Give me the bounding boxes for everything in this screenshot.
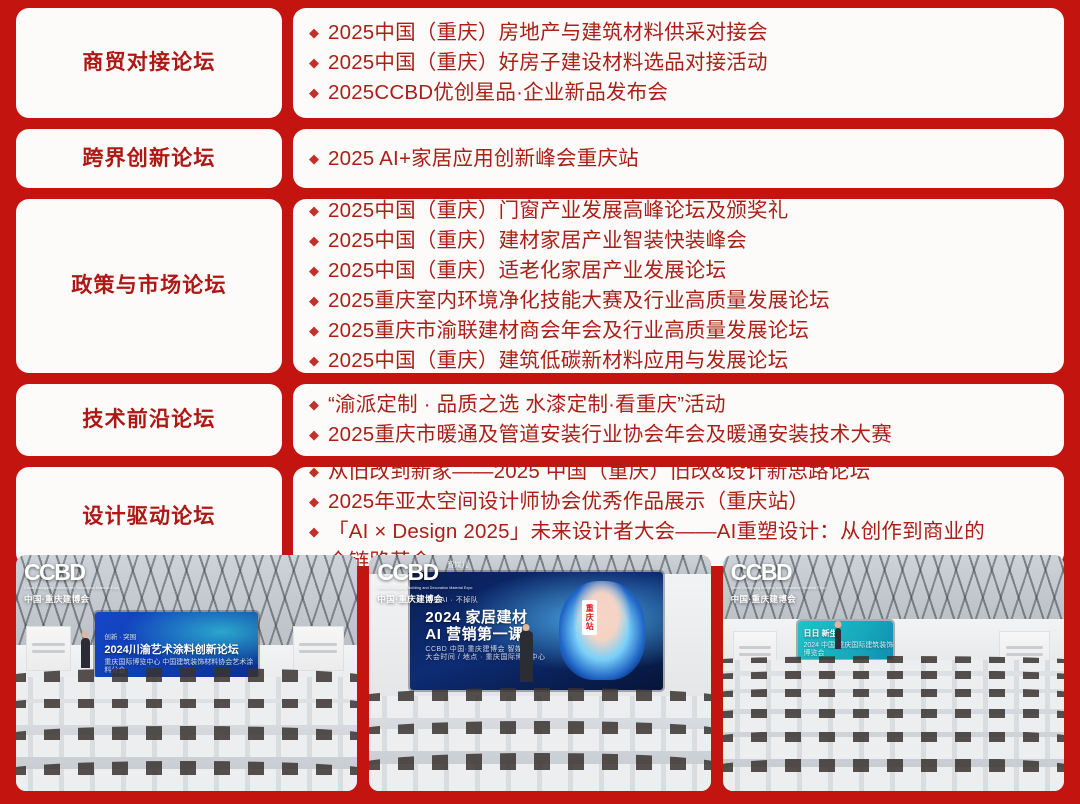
diamond-bullet-icon: ◆ [309, 286, 319, 316]
list-item[interactable]: ◆2025中国（重庆）房地产与建筑材料供采对接会 [309, 18, 1050, 48]
diamond-bullet-icon: ◆ [309, 420, 319, 450]
list-item-text: 2025中国（重庆）建筑低碳新材料应用与发展论坛 [328, 349, 788, 372]
diamond-bullet-icon: ◆ [309, 457, 319, 487]
table-row: 跨界创新论坛 ◆2025 AI+家居应用创新峰会重庆站 [16, 129, 1064, 188]
table-row: 技术前沿论坛 ◆“渝派定制 · 品质之选 水漆定制·看重庆”活动 ◆2025重庆… [16, 384, 1064, 456]
list-item[interactable]: ◆2025 AI+家居应用创新峰会重庆站 [309, 144, 1050, 174]
diamond-bullet-icon: ◆ [309, 226, 319, 256]
list-item-text: 2025中国（重庆）好房子建设材料选品对接活动 [328, 51, 768, 74]
list-item-text: 2025中国（重庆）建材家居产业智装快装峰会 [328, 229, 747, 252]
diamond-bullet-icon: ◆ [309, 18, 319, 48]
poster-root: 商贸对接论坛 ◆2025中国（重庆）房地产与建筑材料供采对接会 ◆2025中国（… [0, 0, 1080, 804]
list-item-text: 2025重庆市渝联建材商会年会及行业高质量发展论坛 [328, 319, 809, 342]
list-item[interactable]: ◆2025年亚太空间设计师协会优秀作品展示（重庆站） [309, 487, 1050, 517]
forum-items-cell: ◆从旧改到新家——2025 中国（重庆）旧改&设计新思路论坛 ◆2025年亚太空… [293, 467, 1064, 566]
list-item-text: 2025年亚太空间设计师协会优秀作品展示（重庆站） [328, 490, 809, 513]
event-photo[interactable]: 遇见AI · 不掉队 2024 家居建材 AI 营销第一课 CCBD 中国·重庆… [369, 555, 710, 791]
forum-items-cell: ◆2025中国（重庆）房地产与建筑材料供采对接会 ◆2025中国（重庆）好房子建… [293, 8, 1064, 118]
ccbd-logo: CCBD China Chongqing Building and Decora… [731, 561, 826, 605]
ccbd-logo-english: China Chongqing Building and Decoration … [731, 586, 826, 591]
list-item-text: 2025中国（重庆）适老化家居产业发展论坛 [328, 259, 726, 282]
list-item[interactable]: ◆2025中国（重庆）好房子建设材料选品对接活动 [309, 48, 1050, 78]
ccbd-logo-chinese: 中国·重庆建博会 [731, 593, 826, 605]
forum-category-label: 政策与市场论坛 [71, 272, 226, 299]
ai-avatar-graphic [559, 581, 645, 680]
list-item-text: 2025重庆市暖通及管道安装行业协会年会及暖通安装技术大赛 [328, 423, 892, 446]
audience-crowd [16, 659, 357, 791]
list-item[interactable]: ◆2025中国（重庆）建筑低碳新材料应用与发展论坛 [309, 346, 1050, 376]
screen-title: 2024川渝艺术涂料创新论坛 [104, 644, 258, 657]
diamond-bullet-icon: ◆ [309, 256, 319, 286]
ccbd-logo-wordmark: CCBD [377, 561, 472, 584]
forum-category-label: 跨界创新论坛 [82, 145, 215, 172]
ccbd-logo: CCBD China Chongqing Building and Decora… [24, 561, 119, 605]
forum-category-label: 技术前沿论坛 [82, 406, 215, 433]
forum-items-cell: ◆2025 AI+家居应用创新峰会重庆站 [293, 129, 1064, 188]
list-item[interactable]: ◆2025CCBD优创星品·企业新品发布会 [309, 78, 1050, 108]
forum-category-cell[interactable]: 商贸对接论坛 [16, 8, 282, 118]
table-row: 设计驱动论坛 ◆从旧改到新家——2025 中国（重庆）旧改&设计新思路论坛 ◆2… [16, 467, 1064, 566]
list-item-text: 2025CCBD优创星品·企业新品发布会 [328, 81, 668, 104]
ccbd-logo-wordmark: CCBD [731, 561, 826, 584]
diamond-bullet-icon: ◆ [309, 487, 319, 517]
list-item-text: 2025 AI+家居应用创新峰会重庆站 [328, 147, 639, 170]
ccbd-logo-wordmark: CCBD [24, 561, 119, 584]
diamond-bullet-icon: ◆ [309, 517, 319, 547]
diamond-bullet-icon: ◆ [309, 196, 319, 226]
screen-kicker: 创新 · 突围 [104, 634, 258, 641]
forum-schedule-table: 商贸对接论坛 ◆2025中国（重庆）房地产与建筑材料供采对接会 ◆2025中国（… [0, 0, 1080, 577]
diamond-bullet-icon: ◆ [309, 78, 319, 108]
list-item[interactable]: ◆2025中国（重庆）门窗产业发展高峰论坛及颁奖礼 [309, 196, 1050, 226]
forum-category-cell[interactable]: 设计驱动论坛 [16, 467, 282, 566]
forum-items-cell: ◆“渝派定制 · 品质之选 水漆定制·看重庆”活动 ◆2025重庆市暖通及管道安… [293, 384, 1064, 456]
audience-crowd [369, 673, 710, 791]
list-item-text: 2025中国（重庆）门窗产业发展高峰论坛及颁奖礼 [328, 199, 788, 222]
list-item[interactable]: ◆2025重庆室内环境净化技能大赛及行业高质量发展论坛 [309, 286, 1050, 316]
audience-crowd [723, 645, 1064, 791]
event-photo[interactable]: 创新 · 突围 2024川渝艺术涂料创新论坛 重庆国际博览中心 中国建筑装饰材料… [16, 555, 357, 791]
list-item-text: 2025重庆室内环境净化技能大赛及行业高质量发展论坛 [328, 289, 830, 312]
list-item[interactable]: ◆2025中国（重庆）建材家居产业智装快装峰会 [309, 226, 1050, 256]
event-photo[interactable]: 日日 新生 2024 中国·重庆国际建筑装饰博览会 CCBD China Cho… [723, 555, 1064, 791]
ccbd-logo-english: China Chongqing Building and Decoration … [377, 586, 472, 591]
list-item[interactable]: ◆从旧改到新家——2025 中国（重庆）旧改&设计新思路论坛 [309, 457, 1050, 487]
diamond-bullet-icon: ◆ [309, 390, 319, 420]
ccbd-logo: CCBD China Chongqing Building and Decora… [377, 561, 472, 605]
ccbd-logo-chinese: 中国·重庆建博会 [24, 593, 119, 605]
forum-category-cell[interactable]: 政策与市场论坛 [16, 199, 282, 373]
diamond-bullet-icon: ◆ [309, 316, 319, 346]
table-row: 政策与市场论坛 ◆2025中国（重庆）门窗产业发展高峰论坛及颁奖礼 ◆2025中… [16, 199, 1064, 373]
forum-category-cell[interactable]: 技术前沿论坛 [16, 384, 282, 456]
diamond-bullet-icon: ◆ [309, 48, 319, 78]
diamond-bullet-icon: ◆ [309, 346, 319, 376]
diamond-bullet-icon: ◆ [309, 144, 319, 174]
ccbd-logo-english: China Chongqing Building and Decoration … [24, 586, 119, 591]
list-item-text: 2025中国（重庆）房地产与建筑材料供采对接会 [328, 21, 768, 44]
table-row: 商贸对接论坛 ◆2025中国（重庆）房地产与建筑材料供采对接会 ◆2025中国（… [16, 8, 1064, 118]
screen-title: 日日 新生 [803, 629, 893, 638]
forum-category-cell[interactable]: 跨界创新论坛 [16, 129, 282, 188]
list-item-text: “渝派定制 · 品质之选 水漆定制·看重庆”活动 [328, 393, 726, 416]
forum-category-label: 商贸对接论坛 [82, 49, 215, 76]
list-item[interactable]: ◆“渝派定制 · 品质之选 水漆定制·看重庆”活动 [309, 390, 1050, 420]
list-item[interactable]: ◆2025中国（重庆）适老化家居产业发展论坛 [309, 256, 1050, 286]
event-photo-strip: 创新 · 突围 2024川渝艺术涂料创新论坛 重庆国际博览中心 中国建筑装饰材料… [16, 555, 1064, 791]
list-item-text: 从旧改到新家——2025 中国（重庆）旧改&设计新思路论坛 [328, 460, 870, 483]
city-badge: 重庆站 [582, 600, 597, 635]
forum-items-cell: ◆2025中国（重庆）门窗产业发展高峰论坛及颁奖礼 ◆2025中国（重庆）建材家… [293, 199, 1064, 373]
list-item[interactable]: ◆2025重庆市暖通及管道安装行业协会年会及暖通安装技术大赛 [309, 420, 1050, 450]
forum-category-label: 设计驱动论坛 [82, 503, 215, 530]
ccbd-logo-chinese: 中国·重庆建博会 [377, 593, 472, 605]
list-item[interactable]: ◆2025重庆市渝联建材商会年会及行业高质量发展论坛 [309, 316, 1050, 346]
